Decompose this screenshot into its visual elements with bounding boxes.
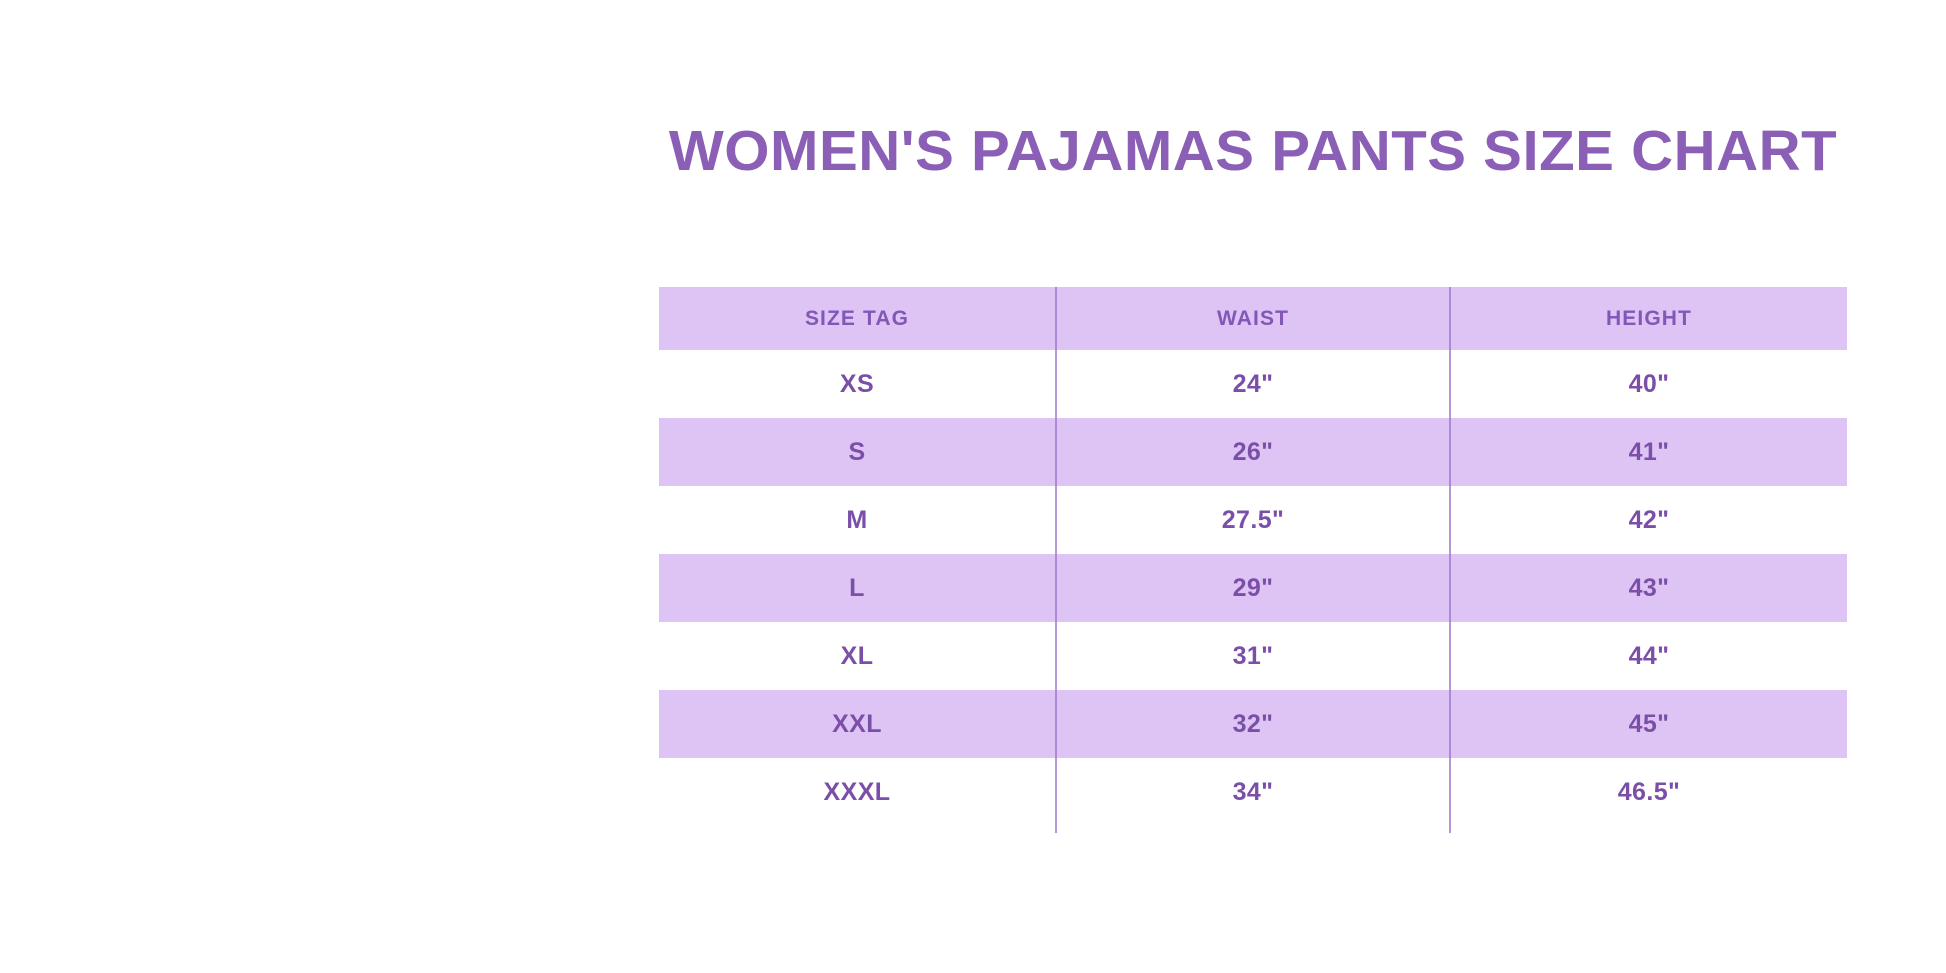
cell-waist: 26" xyxy=(1055,418,1451,486)
table-header-row: SIZE TAG WAIST HEIGHT xyxy=(659,287,1847,350)
table-body: XS 24" 40" S 26" 41" M 27.5" 42" L 29" 4… xyxy=(659,350,1847,826)
column-header-size-tag: SIZE TAG xyxy=(659,287,1055,350)
table-row: XL 31" 44" xyxy=(659,622,1847,690)
cell-waist: 31" xyxy=(1055,622,1451,690)
page-title: WOMEN'S PAJAMAS PANTS SIZE CHART xyxy=(647,122,1859,182)
column-divider-1 xyxy=(1055,287,1057,833)
cell-waist: 34" xyxy=(1055,758,1451,826)
cell-size-tag: S xyxy=(659,418,1055,486)
cell-waist: 29" xyxy=(1055,554,1451,622)
table-row: XXXL 34" 46.5" xyxy=(659,758,1847,826)
cell-height: 40" xyxy=(1451,350,1847,418)
cell-height: 45" xyxy=(1451,690,1847,758)
cell-size-tag: XXXL xyxy=(659,758,1055,826)
table-row: L 29" 43" xyxy=(659,554,1847,622)
column-header-waist: WAIST xyxy=(1055,287,1451,350)
column-header-height: HEIGHT xyxy=(1451,287,1847,350)
table-header: SIZE TAG WAIST HEIGHT xyxy=(659,287,1847,350)
cell-size-tag: L xyxy=(659,554,1055,622)
table-row: XXL 32" 45" xyxy=(659,690,1847,758)
table-row: XS 24" 40" xyxy=(659,350,1847,418)
cell-height: 42" xyxy=(1451,486,1847,554)
cell-size-tag: XS xyxy=(659,350,1055,418)
cell-size-tag: M xyxy=(659,486,1055,554)
cell-waist: 24" xyxy=(1055,350,1451,418)
cell-height: 46.5" xyxy=(1451,758,1847,826)
cell-height: 41" xyxy=(1451,418,1847,486)
table-row: M 27.5" 42" xyxy=(659,486,1847,554)
cell-waist: 32" xyxy=(1055,690,1451,758)
cell-size-tag: XL xyxy=(659,622,1055,690)
cell-size-tag: XXL xyxy=(659,690,1055,758)
size-chart-page: WOMEN'S PAJAMAS PANTS SIZE CHART SIZE TA… xyxy=(0,0,1946,973)
cell-height: 44" xyxy=(1451,622,1847,690)
size-chart-table: SIZE TAG WAIST HEIGHT XS 24" 40" S 26" 4… xyxy=(659,287,1847,826)
cell-height: 43" xyxy=(1451,554,1847,622)
column-divider-2 xyxy=(1449,287,1451,833)
cell-waist: 27.5" xyxy=(1055,486,1451,554)
table-row: S 26" 41" xyxy=(659,418,1847,486)
